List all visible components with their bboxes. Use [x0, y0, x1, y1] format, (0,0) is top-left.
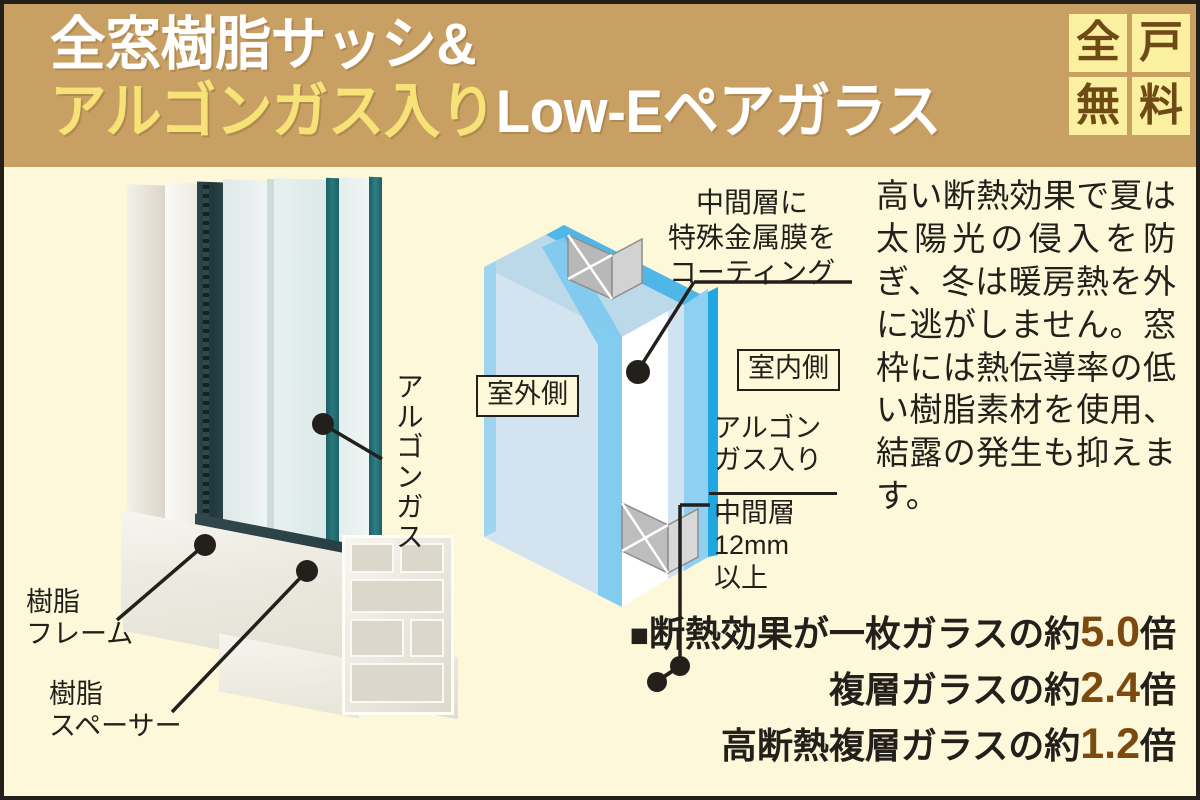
glass-edge-teal-1 [326, 178, 339, 578]
comparison-line: ■断熱効果が一枚ガラスの約5.0倍 [434, 605, 1176, 661]
profile-chamber [350, 543, 394, 573]
profile-chamber [350, 663, 444, 703]
label-resin-frame: 樹脂 フレーム [26, 587, 133, 651]
glass-cavity [339, 177, 369, 578]
label-divider [709, 492, 837, 495]
free-for-all-units-badge: 全 戸 無 料 [1069, 14, 1190, 135]
profile-chamber [350, 619, 404, 657]
comparison-text: 高断熱複層ガラスの約 [721, 725, 1080, 766]
comparison-block: ■断熱効果が一枚ガラスの約5.0倍 複層ガラスの約2.4倍 高断熱複層ガラスの約… [434, 605, 1176, 773]
title-line-1: 全窓樹脂サッシ& [50, 16, 1010, 74]
comparison-suffix: 倍 [1140, 669, 1176, 710]
description-paragraph: 高い断熱効果で夏は太陽光の侵入を防ぎ、冬は暖房熱を外に逃がしません。窓枠には熱伝… [876, 175, 1176, 518]
comparison-value: 1.2 [1080, 720, 1140, 768]
label-outdoor-side: 室外側 [476, 375, 579, 417]
comparison-line: 高断熱複層ガラスの約1.2倍 [434, 717, 1176, 773]
main-content: 樹脂 フレーム 樹脂 スペーサー アルゴンガス 中間層に 特殊金属膜を コーティ… [4, 167, 1196, 796]
badge-cell-zen: 全 [1069, 14, 1127, 72]
glass-pane-outer [223, 179, 267, 579]
badge-cell-ko: 戸 [1132, 14, 1190, 72]
label-resin-spacer: 樹脂 スペーサー [49, 679, 182, 743]
comparison-suffix: 倍 [1140, 613, 1176, 654]
header-banner: 全窓樹脂サッシ& アルゴンガス入りLow-Eペアガラス 全 戸 無 料 [4, 4, 1200, 167]
label-argon-gas-filled: アルゴン ガス入り [714, 412, 822, 477]
comparison-text: 断熱効果が一枚ガラスの約 [649, 613, 1080, 654]
badge-cell-mu: 無 [1069, 77, 1127, 135]
glass-pane-inner [274, 178, 326, 578]
title-block: 全窓樹脂サッシ& アルゴンガス入りLow-Eペアガラス [50, 16, 1050, 142]
advertisement-page: 全窓樹脂サッシ& アルゴンガス入りLow-Eペアガラス 全 戸 無 料 [0, 0, 1200, 800]
badge-cell-ryo: 料 [1132, 77, 1190, 135]
label-midlayer-thickness: 中間層 12mm 以上 [714, 497, 795, 594]
label-indoor-side: 室内側 [737, 349, 840, 391]
glass-gap-line [267, 179, 274, 577]
comparison-value: 5.0 [1080, 608, 1140, 656]
comparison-suffix: 倍 [1140, 725, 1176, 766]
bullet-square-icon: ■ [630, 617, 649, 653]
profile-chamber [350, 579, 444, 613]
title-line-2: アルゴンガス入りLow-Eペアガラス [50, 82, 990, 142]
title-line-2-white: Low-Eペアガラス [496, 78, 941, 145]
glass-edge-teal-2 [369, 177, 382, 577]
title-line-2-yellow: アルゴンガス入り [50, 78, 496, 145]
comparison-value: 2.4 [1080, 664, 1140, 712]
comparison-line: 複層ガラスの約2.4倍 [434, 661, 1176, 717]
comparison-text: 複層ガラスの約 [829, 669, 1080, 710]
label-coating: 中間層に 特殊金属膜を コーティング [652, 185, 852, 290]
label-argon-gas-photo: アルゴンガス [392, 372, 423, 552]
